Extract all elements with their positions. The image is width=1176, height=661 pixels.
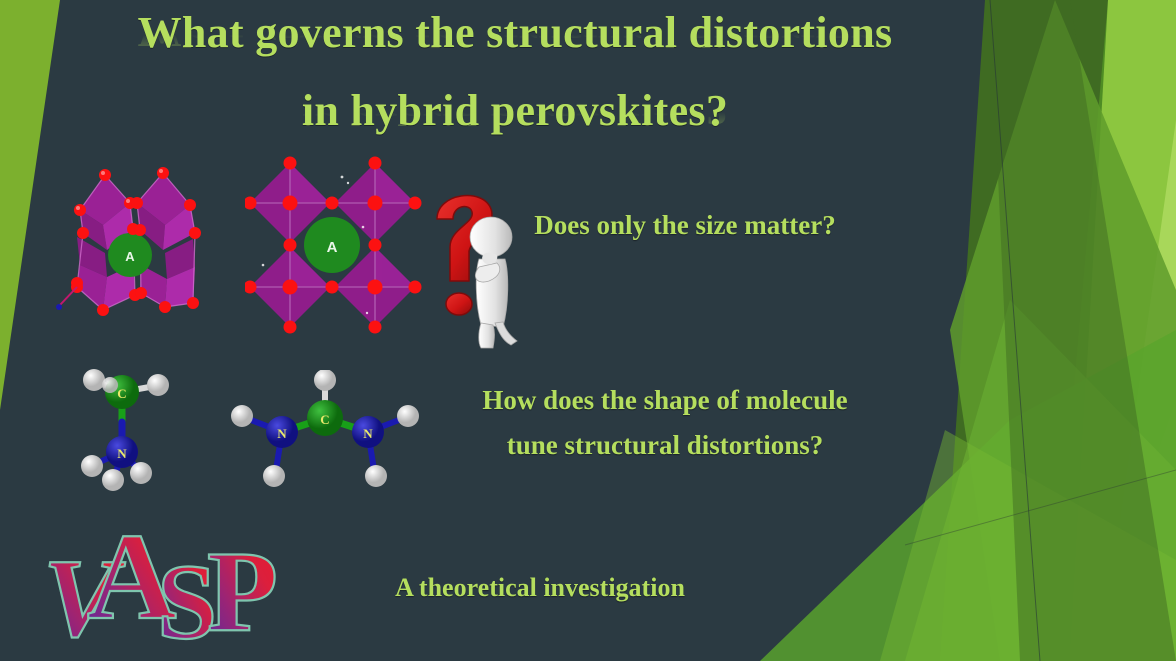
formamidinium-figure: C N N (220, 370, 430, 500)
formamidinium-svg: C N N (220, 370, 430, 500)
edge-nitrogen-atom (56, 304, 62, 310)
distorted-perovskite-figure: A (55, 155, 240, 335)
carbon-label: C (320, 412, 329, 427)
a-site-cation-label: A (327, 239, 338, 256)
edge-bond-stub (60, 287, 77, 305)
title-line-2: in hybrid perovskites? (40, 86, 990, 136)
vasp-logo: V A S P (35, 518, 285, 643)
thinking-person-figure (470, 217, 517, 348)
carbon-label: C (117, 386, 126, 401)
nitrogen-label-left: N (277, 426, 287, 441)
cubic-perovskite-figure: A (245, 155, 430, 335)
a-site-cation-label: A (125, 249, 135, 264)
slide-canvas: What governs the structural distortions … (0, 0, 1176, 661)
question-shape-text: How does the shape of molecule tune stru… (470, 378, 860, 468)
question-size-text: Does only the size matter? (520, 203, 850, 248)
octahedra-shading-cubic (290, 163, 415, 287)
cubic-perovskite-svg: A (245, 155, 430, 335)
vasp-logo-svg: V A S P (35, 518, 285, 643)
distorted-perovskite-svg: A (55, 155, 240, 335)
methylammonium-svg: C N (65, 360, 215, 500)
nitrogen-label-right: N (363, 426, 373, 441)
nitrogen-label: N (117, 446, 127, 461)
methylammonium-figure: C N (65, 360, 215, 500)
caption-text: A theoretical investigation (300, 571, 780, 605)
slide-title: What governs the structural distortions … (40, 8, 990, 156)
title-line-1: What governs the structural distortions (40, 8, 990, 58)
vasp-letter-p: P (207, 528, 278, 643)
